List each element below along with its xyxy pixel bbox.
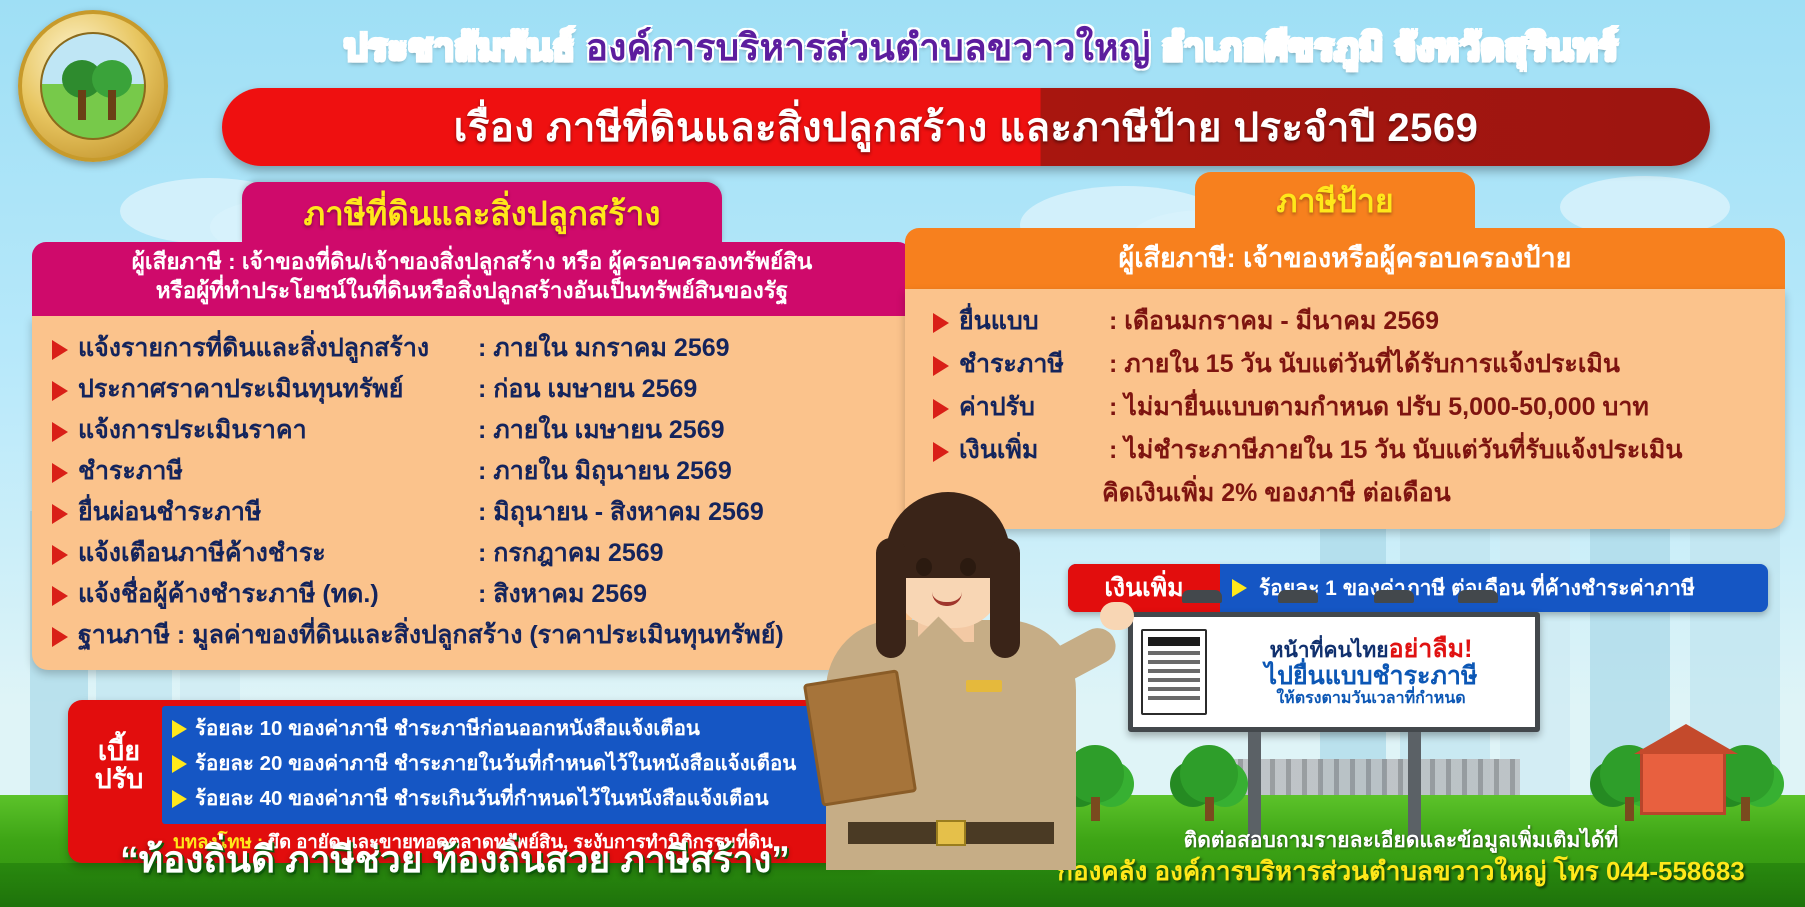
signboard-tax-header-line: ผู้เสียภาษี: เจ้าของหรือผู้ครอบครองป้าย [915,236,1775,279]
headline-part-2: องค์การบริหารส่วนตำบลขวาวใหญ่ [586,27,1162,68]
tax-base-row: ฐานภาษี : มูลค่าของที่ดินและสิ่งปลูกสร้า… [46,615,896,655]
schedule-label: แจ้งเตือนภาษีค้างชำระ [78,533,478,573]
land-tax-tab: ภาษีที่ดินและสิ่งปลูกสร้าง [242,182,722,244]
notepad-icon [1141,629,1207,715]
land-tax-tab-label: ภาษีที่ดินและสิ่งปลูกสร้าง [304,187,661,240]
billboard-lamp-icon [1182,590,1222,603]
schedule-value: : กรกฎาคม 2569 [478,533,664,573]
penalty-tag-line-1: เบี้ย [98,737,140,765]
triangle-bullet-icon [52,586,68,606]
house-illustration [1640,749,1726,815]
triangle-bullet-icon [52,627,68,647]
signboard-label: เงินเพิ่ม [959,430,1109,470]
triangle-bullet-icon [52,340,68,360]
footer-contact: ติดต่อสอบถามรายละเอียดและข้อมูลเพิ่มเติม… [1021,828,1781,887]
billboard-text: หน้าที่คนไทยอย่าลืม! ไปยื่นแบบชำระภาษี ใ… [1215,636,1527,707]
signboard-value: : ภายใน 15 วัน นับแต่วันที่ได้รับการแจ้ง… [1109,344,1620,384]
signboard-value: : ไม่มายื่นแบบตามกำหนด ปรับ 5,000-50,000… [1109,387,1649,427]
schedule-value: : มิถุนายน - สิงหาคม 2569 [478,492,764,532]
signboard-tax-header: ผู้เสียภาษี: เจ้าของหรือผู้ครอบครองป้าย [905,228,1785,289]
page-title: ประชาสัมพันธ์ องค์การบริหารส่วนตำบลขวาวใ… [176,28,1786,69]
triangle-bullet-icon [1232,579,1247,597]
billboard-lamp-icon [1278,590,1318,603]
footer-slogan: “ท้องถิ่นดี ภาษีช่วย ท้องถิ่นสวย ภาษีสร้… [40,830,870,889]
signboard-value: : ไม่ชำระภาษีภายใน 15 วัน นับแต่วันที่รั… [1109,430,1682,470]
billboard-frame: หน้าที่คนไทยอย่าลืม! ไปยื่นแบบชำระภาษี ใ… [1128,612,1540,732]
billboard-illustration: หน้าที่คนไทยอย่าลืม! ไปยื่นแบบชำระภาษี ใ… [1128,612,1540,732]
poster-root: ประชาสัมพันธ์ องค์การบริหารส่วนตำบลขวาวใ… [0,0,1805,907]
headline-part-3: อำเภอศีขรภูมิ จังหวัดสุรินทร์ [1161,27,1618,68]
land-tax-schedule-list: แจ้งรายการที่ดินและสิ่งปลูกสร้าง : ภายใน… [32,316,912,670]
list-item: ประกาศราคาประเมินทุนทรัพย์ : ก่อน เมษายน… [46,369,896,409]
list-item: เงินเพิ่ม : ไม่ชำระภาษีภายใน 15 วัน นับแ… [927,430,1769,470]
schedule-label: ชำระภาษี [78,451,478,491]
penalty-rule-text: ร้อยละ 10 ของค่าภาษี ชำระภาษีก่อนออกหนัง… [195,712,700,745]
triangle-bullet-icon [933,442,949,462]
schedule-label: ยื่นผ่อนชำระภาษี [78,492,478,532]
list-item: ค่าปรับ : ไม่มายื่นแบบตามกำหนด ปรับ 5,00… [927,387,1769,427]
billboard-line-2: ไปยื่นแบบชำระภาษี [1215,663,1527,690]
signboard-label: ชำระภาษี [959,344,1109,384]
penalty-rules-list: ร้อยละ 10 ของค่าภาษี ชำระภาษีก่อนออกหนัง… [162,706,870,824]
list-item: แจ้งชื่อผู้ค้างชำระภาษี (ทด.) : สิงหาคม … [46,574,896,614]
surcharge-strip: เงินเพิ่ม ร้อยละ 1 ของค่าภาษี ต่อเดือน ท… [1068,564,1768,612]
contact-line-1: ติดต่อสอบถามรายละเอียดและข้อมูลเพิ่มเติม… [1021,828,1781,854]
title-banner-text: เรื่อง ภาษีที่ดินและสิ่งปลูกสร้าง และภาษ… [454,95,1479,159]
triangle-bullet-icon [52,422,68,442]
penalty-box-inner: เบี้ย ปรับ ร้อยละ 10 ของค่าภาษี ชำระภาษี… [76,706,870,824]
organization-logo [18,10,168,162]
list-item: ยื่นผ่อนชำระภาษี : มิถุนายน - สิงหาคม 25… [46,492,896,532]
land-tax-header: ผู้เสียภาษี : เจ้าของที่ดิน/เจ้าของสิ่งป… [32,242,912,316]
list-item: ร้อยละ 20 ของค่าภาษี ชำระภายในวันที่กำหน… [168,747,862,780]
signboard-tax-tab-label: ภาษีป้าย [1276,176,1393,227]
billboard-support-leg [1408,732,1421,840]
signboard-label: ยื่นแบบ [959,301,1109,341]
billboard-lamp-icon [1458,590,1498,603]
contact-line-2: กองคลัง องค์การบริหารส่วนตำบลขวาวใหญ่ โท… [1021,855,1781,888]
title-banner: เรื่อง ภาษีที่ดินและสิ่งปลูกสร้าง และภาษ… [222,88,1710,166]
penalty-tag-line-2: ปรับ [95,765,144,793]
triangle-bullet-icon [933,356,949,376]
schedule-value: : ภายใน เมษายน 2569 [478,410,725,450]
list-item: แจ้งการประเมินราคา : ภายใน เมษายน 2569 [46,410,896,450]
schedule-label: แจ้งชื่อผู้ค้างชำระภาษี (ทด.) [78,574,478,614]
billboard-lamp-icon [1374,590,1414,603]
billboard-line-1-navy: หน้าที่คนไทย [1270,639,1389,662]
tax-base-text: ฐานภาษี : มูลค่าของที่ดินและสิ่งปลูกสร้า… [78,615,784,655]
schedule-label: ประกาศราคาประเมินทุนทรัพย์ [78,369,478,409]
list-item: ร้อยละ 10 ของค่าภาษี ชำระภาษีก่อนออกหนัง… [168,712,862,745]
billboard-line-3: ให้ตรงตามวันเวลาที่กำหนด [1215,690,1527,707]
triangle-bullet-icon [52,381,68,401]
tree-1 [1180,745,1238,821]
land-tax-header-line-2: หรือผู้ที่ทำประโยชน์ในที่ดินหรือสิ่งปลูก… [44,277,900,306]
triangle-bullet-icon [52,504,68,524]
land-building-tax-panel: ภาษีที่ดินและสิ่งปลูกสร้าง ผู้เสียภาษี :… [32,182,912,670]
list-item: ร้อยละ 40 ของค่าภาษี ชำระเกินวันที่กำหนด… [168,782,862,815]
schedule-value: : ก่อน เมษายน 2569 [478,369,697,409]
penalty-rule-text: ร้อยละ 20 ของค่าภาษี ชำระภายในวันที่กำหน… [195,747,796,780]
list-item: แจ้งรายการที่ดินและสิ่งปลูกสร้าง : ภายใน… [46,328,896,368]
triangle-bullet-icon [172,755,187,773]
land-tax-header-line-1: ผู้เสียภาษี : เจ้าของที่ดิน/เจ้าของสิ่งป… [44,248,900,277]
schedule-value: : สิงหาคม 2569 [478,574,647,614]
billboard-line-1-red: อย่าลืม! [1389,635,1473,663]
schedule-label: แจ้งการประเมินราคา [78,410,478,450]
triangle-bullet-icon [172,790,187,808]
triangle-bullet-icon [933,313,949,333]
list-item: แจ้งเตือนภาษีค้างชำระ : กรกฎาคม 2569 [46,533,896,573]
triangle-bullet-icon [52,545,68,565]
list-item: ชำระภาษี : ภายใน 15 วัน นับแต่วันที่ได้ร… [927,344,1769,384]
triangle-bullet-icon [933,399,949,419]
signboard-value: : เดือนมกราคม - มีนาคม 2569 [1109,301,1439,341]
officer-character-illustration [790,470,1120,870]
signboard-label: ค่าปรับ [959,387,1109,427]
schedule-value: : ภายใน มิถุนายน 2569 [478,451,732,491]
penalty-tag: เบี้ย ปรับ [76,706,162,824]
logo-emblem [40,32,146,140]
signboard-tax-tab: ภาษีป้าย [1195,172,1475,230]
billboard-line-1: หน้าที่คนไทยอย่าลืม! [1215,636,1527,663]
penalty-rule-text: ร้อยละ 40 ของค่าภาษี ชำระเกินวันที่กำหนด… [195,782,769,815]
schedule-value: : ภายใน มกราคม 2569 [478,328,730,368]
billboard-support-leg [1248,732,1261,840]
triangle-bullet-icon [172,720,187,738]
triangle-bullet-icon [52,463,68,483]
list-item: ยื่นแบบ : เดือนมกราคม - มีนาคม 2569 [927,301,1769,341]
list-item: ชำระภาษี : ภายใน มิถุนายน 2569 [46,451,896,491]
schedule-label: แจ้งรายการที่ดินและสิ่งปลูกสร้าง [78,328,478,368]
headline-part-1: ประชาสัมพันธ์ [344,27,586,68]
